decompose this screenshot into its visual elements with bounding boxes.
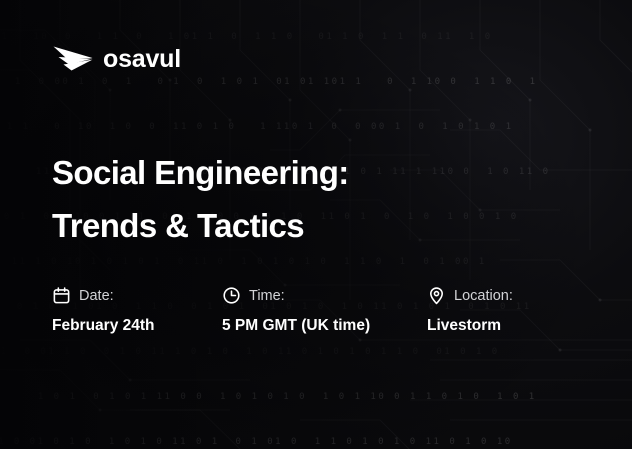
headline-line-1: Social Engineering: (52, 146, 349, 199)
map-pin-icon (427, 286, 446, 305)
detail-date: Date: (52, 286, 222, 305)
detail-value-row: February 24th 5 PM GMT (UK time) Livesto… (52, 317, 592, 335)
paper-plane-swoosh-icon (52, 44, 94, 74)
detail-time-label: Time: (249, 288, 285, 304)
page-title: Social Engineering: Trends & Tactics (52, 146, 349, 252)
headline-line-2: Trends & Tactics (52, 199, 349, 252)
detail-location-value: Livestorm (427, 317, 501, 335)
detail-location-label: Location: (454, 288, 513, 304)
detail-date-value: February 24th (52, 317, 222, 335)
calendar-icon (52, 286, 71, 305)
brand-name: osavul (103, 45, 181, 74)
brand-logo: osavul (52, 44, 181, 74)
detail-time: Time: (222, 286, 427, 305)
clock-icon (222, 286, 241, 305)
webinar-promo-banner: 0 1 10 0 1 1 0 1 01 1 0 1 1 0 01 1 0 1 1… (0, 0, 632, 449)
detail-time-value: 5 PM GMT (UK time) (222, 317, 427, 335)
banner-content: osavul Social Engineering: Trends & Tact… (0, 0, 632, 449)
detail-date-label: Date: (79, 288, 114, 304)
detail-label-row: Date: Time: Location: (52, 286, 592, 305)
event-details: Date: Time: Location: (52, 286, 592, 335)
detail-location: Location: (427, 286, 513, 305)
